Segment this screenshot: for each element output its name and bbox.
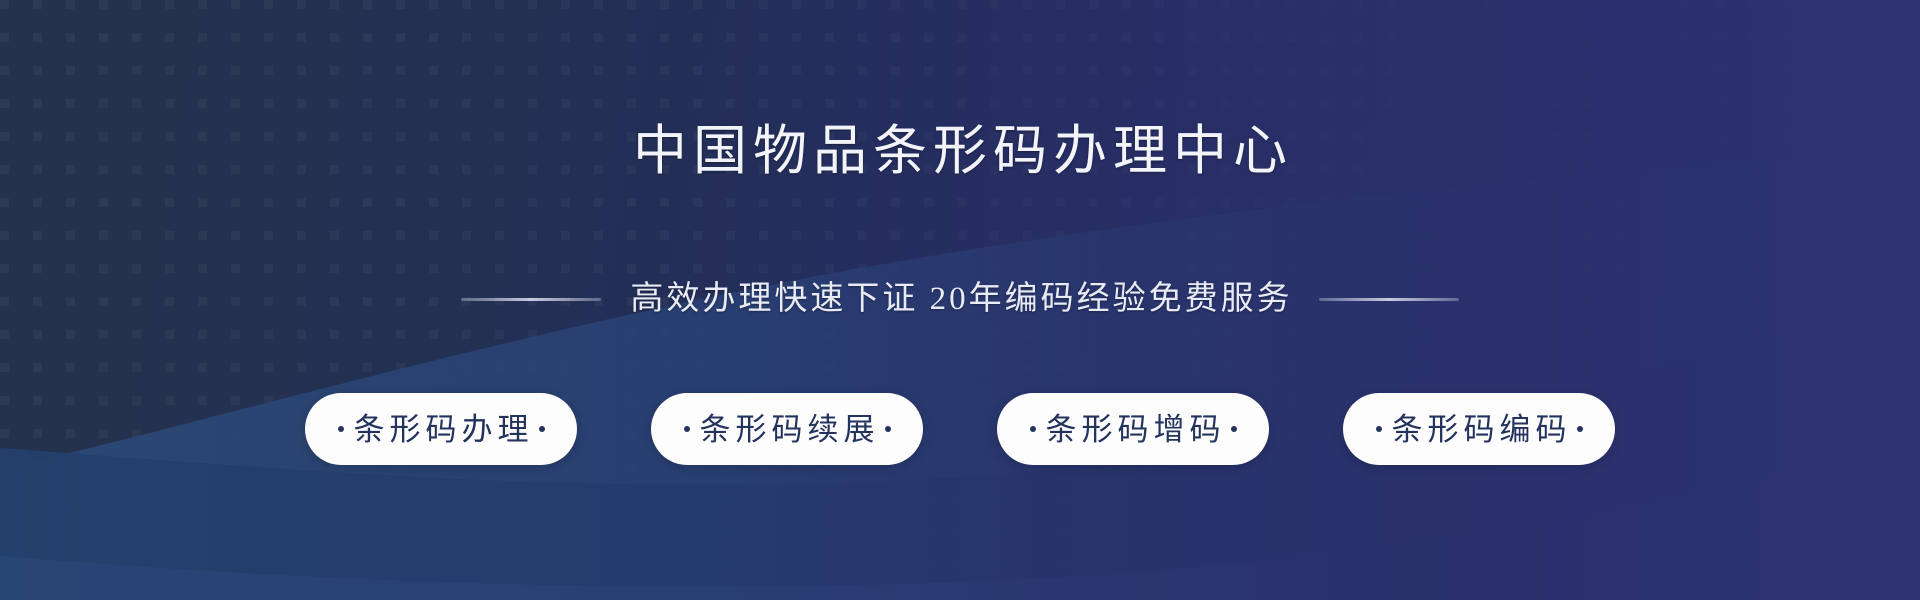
page-title: 中国物品条形码办理中心	[627, 122, 1293, 181]
barcode-service-banner: 中国物品条形码办理中心 高效办理快速下证 20年编码经验免费服务 条形码办理 条…	[0, 0, 1920, 600]
bullet-dot-icon	[1231, 426, 1237, 432]
bullet-dot-icon	[1577, 426, 1583, 432]
subtitle-container: 高效办理快速下证 20年编码经验免费服务	[0, 279, 1920, 320]
pill-barcode-renew[interactable]: 条形码续展	[651, 393, 923, 465]
bullet-dot-icon	[684, 426, 690, 432]
page-title-container: 中国物品条形码办理中心	[0, 86, 1920, 218]
pill-barcode-apply[interactable]: 条形码办理	[305, 393, 577, 465]
left-rule-divider	[461, 298, 601, 301]
pill-label: 条形码增码	[1041, 414, 1226, 445]
page-subtitle: 高效办理快速下证 20年编码经验免费服务	[627, 279, 1292, 320]
bullet-dot-icon	[539, 426, 545, 432]
pill-label: 条形码编码	[1387, 414, 1572, 445]
pill-label: 条形码办理	[349, 414, 534, 445]
bullet-dot-icon	[1376, 426, 1382, 432]
right-rule-divider	[1319, 298, 1459, 301]
pill-barcode-encode[interactable]: 条形码编码	[1343, 393, 1615, 465]
pill-barcode-add[interactable]: 条形码增码	[997, 393, 1269, 465]
service-pill-list: 条形码办理 条形码续展 条形码增码 条形码编码	[0, 393, 1920, 465]
pill-label: 条形码续展	[695, 414, 880, 445]
bullet-dot-icon	[1030, 426, 1036, 432]
bullet-dot-icon	[885, 426, 891, 432]
bullet-dot-icon	[338, 426, 344, 432]
